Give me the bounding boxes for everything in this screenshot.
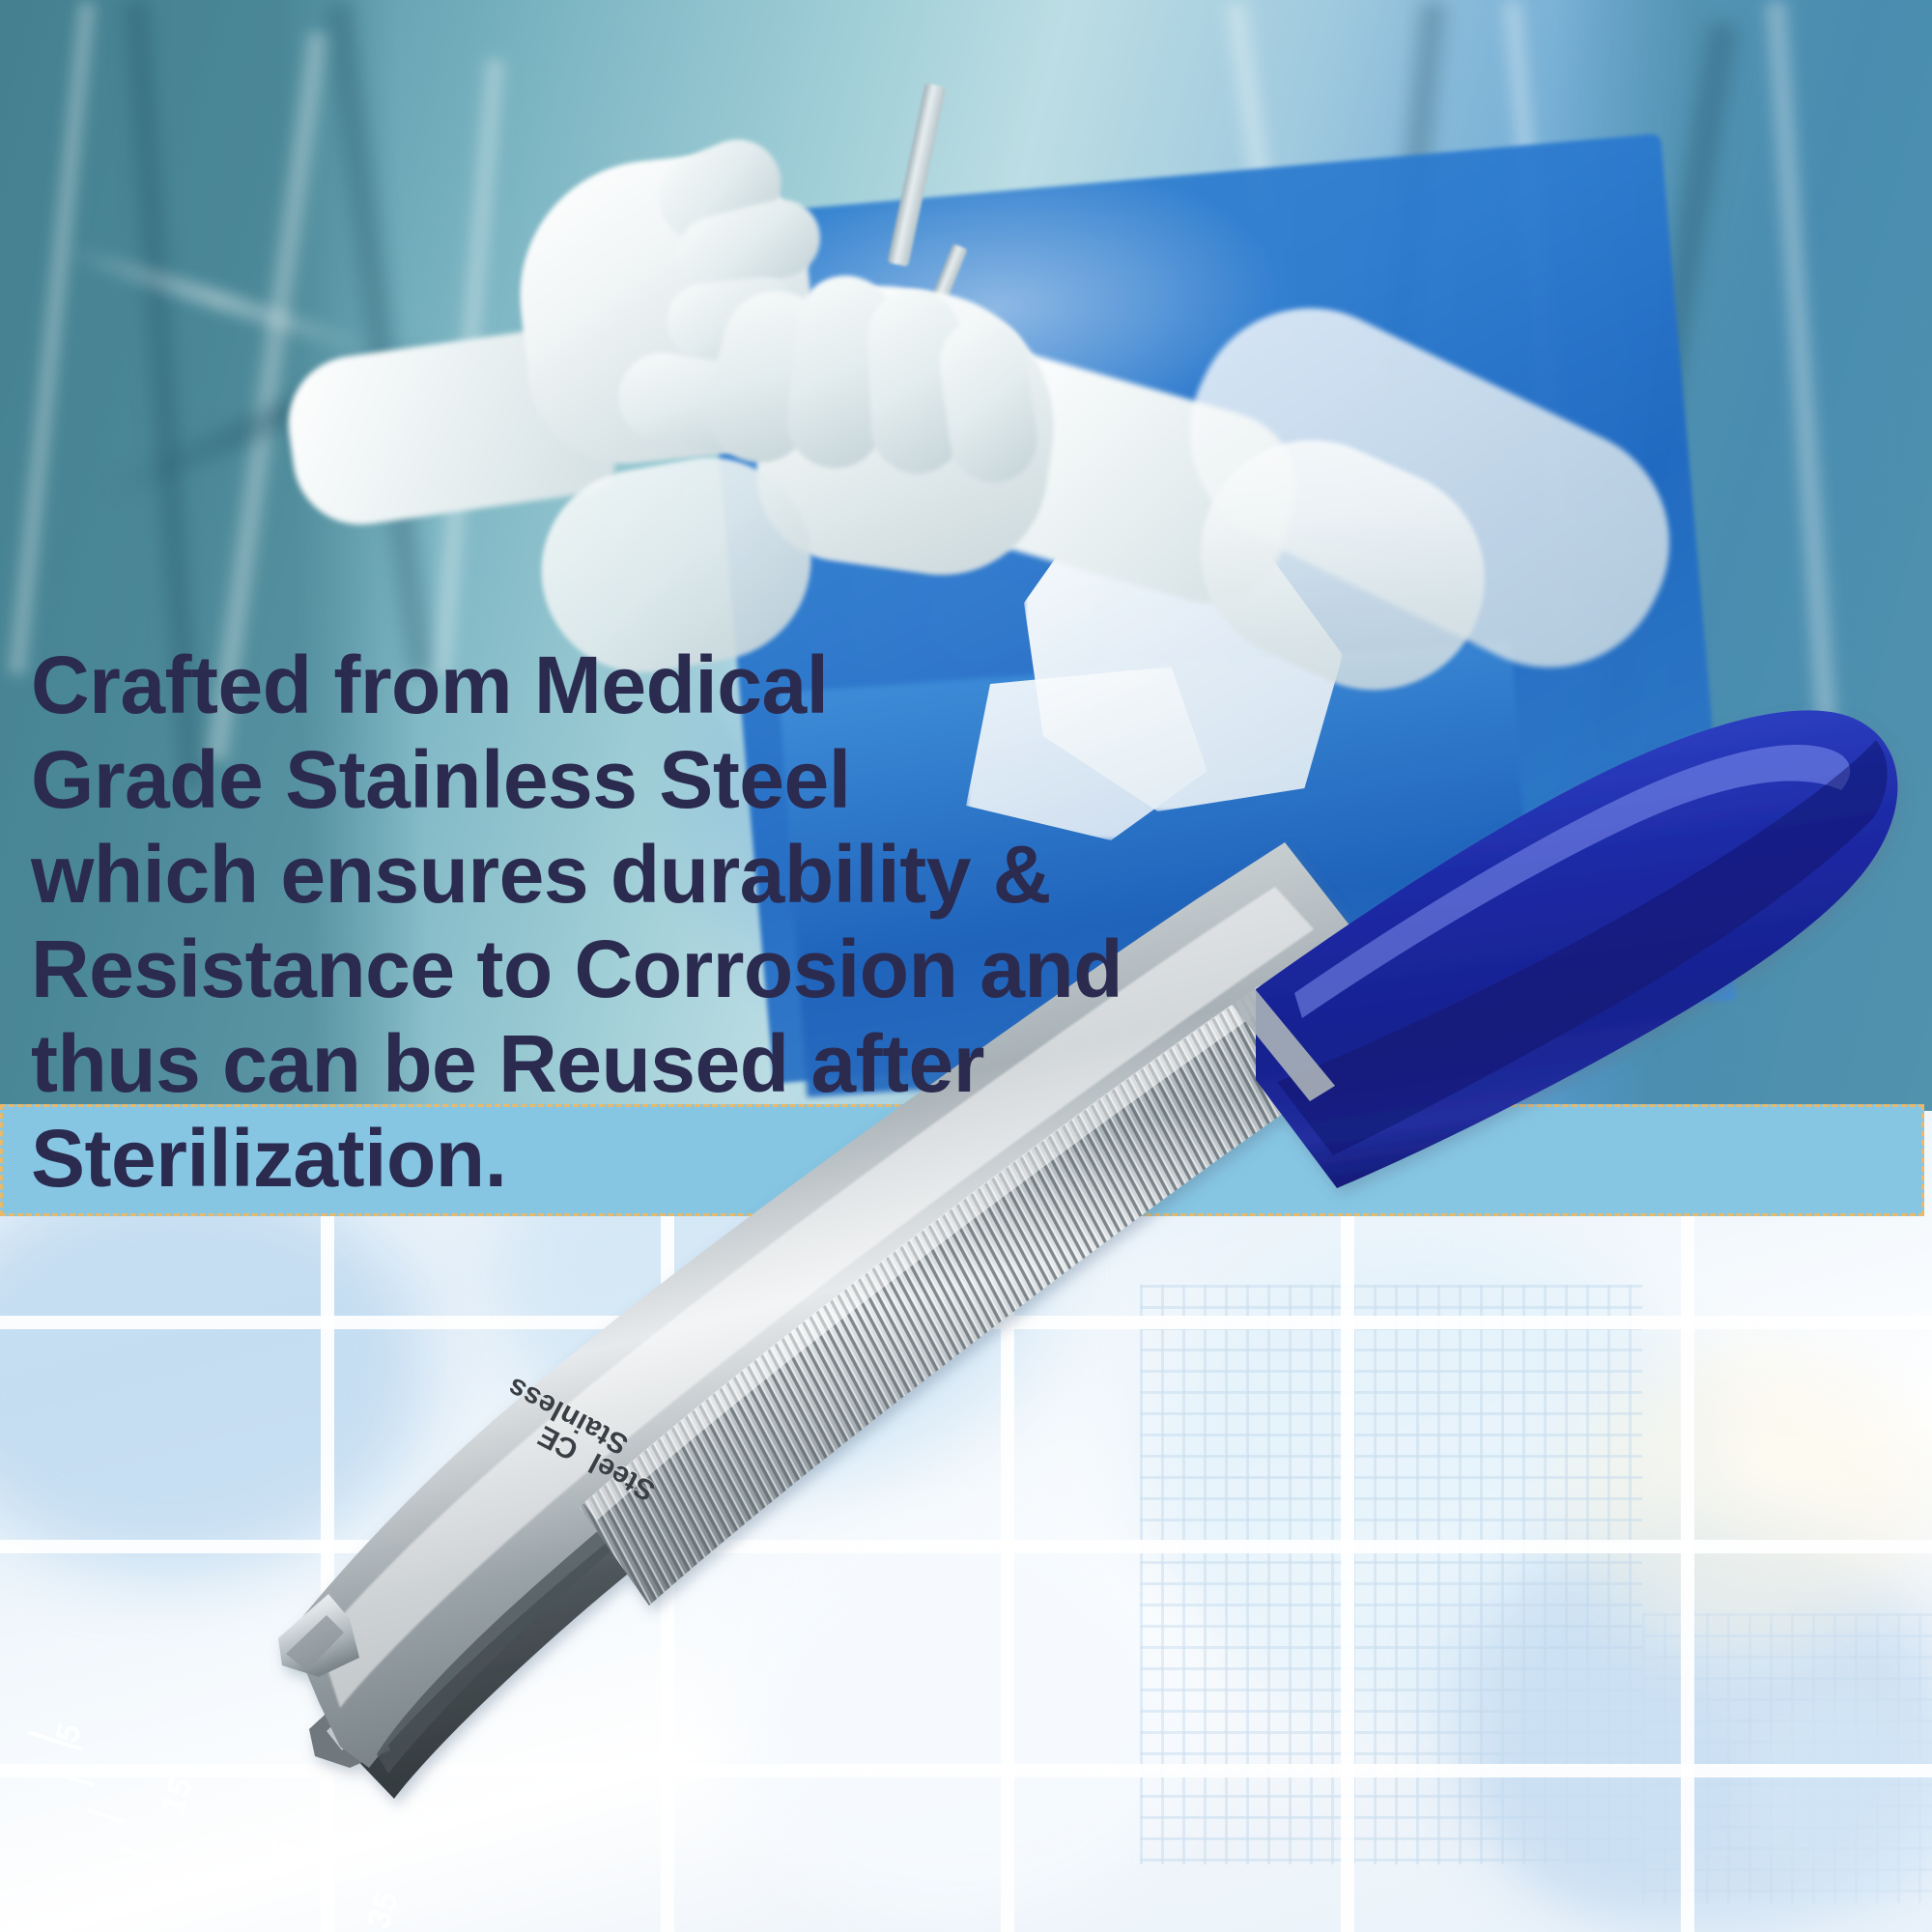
headline-line-2: Grade Stainless Steel xyxy=(31,732,997,827)
headline-block: Crafted from MedicalGrade Stainless Stee… xyxy=(31,638,997,1206)
headline-text: which ensures durability & xyxy=(31,829,1051,920)
headline-text: Crafted from xyxy=(31,639,534,730)
headline-line-3: which ensures durability & xyxy=(31,827,997,922)
headline-line-1: Crafted from Medical xyxy=(31,638,997,732)
headline-line-4: Resistance to Corrosion and xyxy=(31,922,997,1016)
headline-text: Resistance to Corrosion and xyxy=(31,923,1122,1014)
headline-line-6: Sterilization. xyxy=(31,1111,997,1206)
headline-emphasis: Reused xyxy=(498,1018,788,1109)
headline-line-5: thus can be Reused after xyxy=(31,1016,997,1111)
headline-emphasis: Sterilization. xyxy=(31,1113,506,1204)
headline-text: thus can be xyxy=(31,1018,498,1109)
headline-emphasis: Medical xyxy=(534,639,829,730)
promo-image-canvas: DIATOR 5 15 25 35 xyxy=(0,0,1932,1932)
headline-text: Stainless Steel xyxy=(263,734,850,825)
headline-emphasis: Grade xyxy=(31,734,263,825)
headline-text: after xyxy=(789,1018,984,1109)
collage-tile-grid xyxy=(0,1111,1932,1932)
instrument-collage-background: DIATOR 5 15 25 35 xyxy=(0,1111,1932,1932)
